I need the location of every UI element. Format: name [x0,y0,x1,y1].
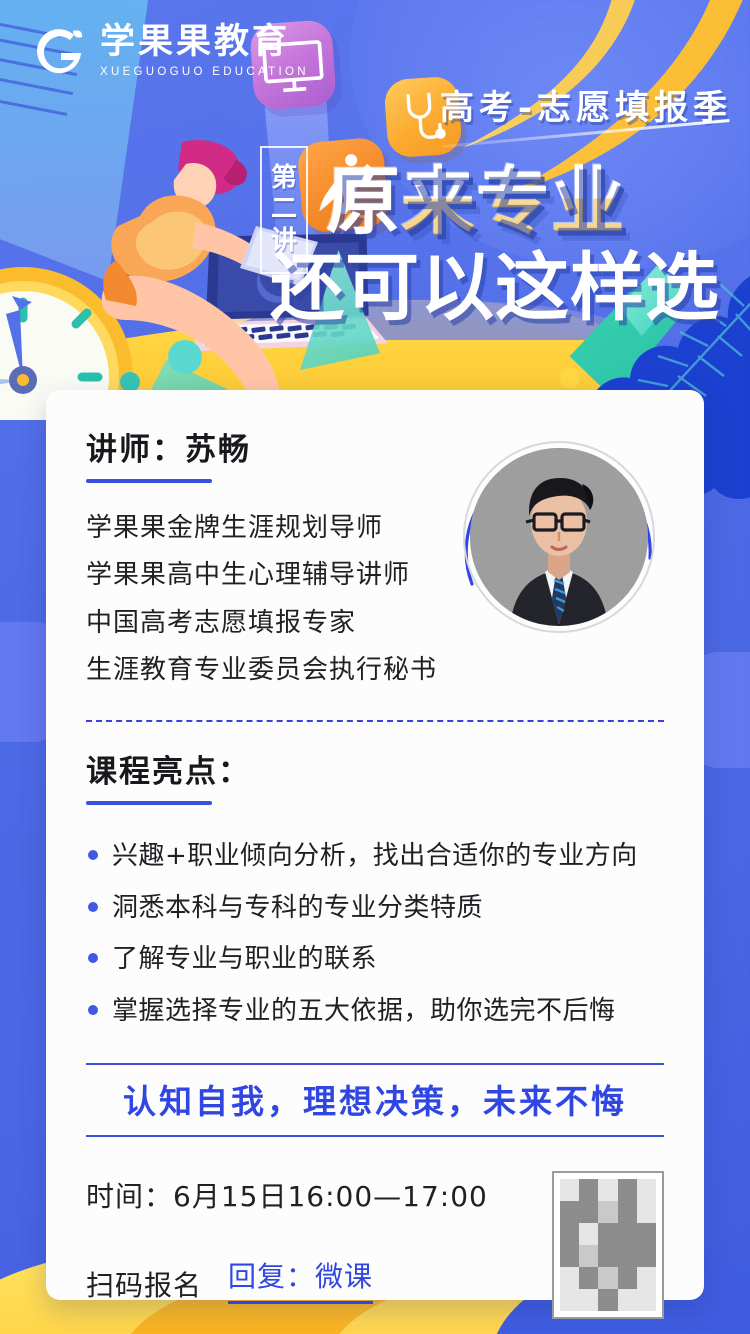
qr-module [560,1289,579,1311]
brand-logo[interactable]: 学果果教育 XUEGUOGUO EDUCATION [30,22,309,80]
lecturer-title: 讲师：苏畅 [86,424,437,469]
lecturer-portrait-icon [470,448,648,626]
qr-module [579,1201,598,1223]
highlights-title: 课程亮点： [86,746,664,791]
qr-module [560,1223,579,1245]
highlights-title-underline [86,801,212,805]
qr-module [579,1289,598,1311]
footer-section: 时间：6月15日16:00—17:00 扫码报名 回复：微课 [86,1171,664,1319]
qr-module [637,1201,656,1223]
qr-module [637,1289,656,1311]
qr-module [598,1223,617,1245]
qr-module [618,1245,637,1267]
lecturer-credentials-list: 学果果金牌生涯规划导师 学果果高中生心理辅导讲师 中国高考志愿填报专家 生涯教育… [86,505,437,694]
poster-canvas: 学果果教育 XUEGUOGUO EDUCATION 高考-志愿填报季 第 二 讲… [0,0,750,1334]
list-item: 生涯教育专业委员会执行秘书 [86,647,437,694]
decor-dot-2 [120,372,140,392]
qr-module [560,1179,579,1201]
qr-module [560,1201,579,1223]
qr-module [598,1201,617,1223]
section-divider [86,720,664,722]
highlights-section: 课程亮点： 兴趣+职业倾向分析，找出合适你的专业方向 洞悉本科与专科的专业分类特… [86,746,664,1037]
qr-code[interactable] [552,1171,664,1319]
scan-label: 扫码报名 [86,1264,202,1304]
qr-module [637,1223,656,1245]
qr-module [598,1289,617,1311]
qr-module [579,1245,598,1267]
list-item: 中国高考志愿填报专家 [86,600,437,647]
qr-module [618,1289,637,1311]
content-card: 讲师：苏畅 学果果金牌生涯规划导师 学果果高中生心理辅导讲师 中国高考志愿填报专… [46,390,704,1300]
qr-module [598,1179,617,1201]
qr-module [579,1267,598,1289]
qr-module [618,1223,637,1245]
list-item: 了解专业与职业的联系 [86,934,664,985]
qr-module [579,1223,598,1245]
list-item: 掌握选择专业的五大依据，助你选完不后悔 [86,986,664,1037]
qr-module [598,1245,617,1267]
qr-module [618,1201,637,1223]
avatar [454,432,664,642]
list-item: 洞悉本科与专科的专业分类特质 [86,883,664,934]
list-item: 学果果金牌生涯规划导师 [86,505,437,552]
decor-dot-1 [168,340,202,374]
list-item: 兴趣+职业倾向分析，找出合适你的专业方向 [86,831,664,882]
badge-char-2: 二 [271,195,297,224]
qr-module [618,1267,637,1289]
slogan-box: 认知自我，理想决策，未来不悔 [86,1063,664,1137]
qr-module [637,1267,656,1289]
qr-module [560,1267,579,1289]
avatar-photo [470,448,648,626]
qr-module [637,1245,656,1267]
reply-keyword[interactable]: 回复：微课 [228,1255,373,1304]
qr-module [618,1179,637,1201]
title-line-2: 还可以这样选 [270,228,720,335]
highlights-list: 兴趣+职业倾向分析，找出合适你的专业方向 洞悉本科与专科的专业分类特质 了解专业… [86,831,664,1037]
qr-module [579,1179,598,1201]
qr-module [637,1179,656,1201]
slogan-text: 认知自我，理想决策，未来不悔 [86,1075,664,1123]
lecturer-section: 讲师：苏畅 学果果金牌生涯规划导师 学果果高中生心理辅导讲师 中国高考志愿填报专… [86,424,664,694]
lecturer-title-underline [86,479,212,483]
list-item: 学果果高中生心理辅导讲师 [86,552,437,599]
header-title-block: 高考-志愿填报季 第 二 讲 原来专业 还可以这样选 [230,80,750,350]
brand-name-en: XUEGUOGUO EDUCATION [100,66,309,78]
qr-module [560,1245,579,1267]
badge-char-1: 第 [271,164,297,193]
brand-name-cn: 学果果教育 [100,24,309,61]
time-text: 时间：6月15日16:00—17:00 [86,1175,488,1215]
qr-module [598,1267,617,1289]
xueguoguo-g-logo-icon [30,22,88,80]
